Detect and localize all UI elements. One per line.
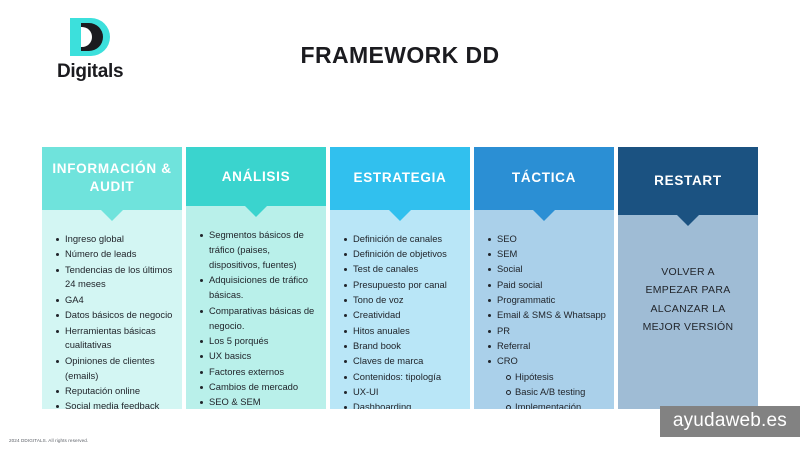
slide-header: Digitals FRAMEWORK DD — [0, 0, 800, 120]
list-item: Email & SMS & Whatsapp — [497, 308, 608, 323]
list-item: Dashboarding — [353, 400, 464, 409]
list-item: Ingreso global — [65, 232, 176, 247]
framework-column-restart: RESTARTVOLVER A EMPEZAR PARA ALCANZAR LA… — [618, 147, 758, 409]
list-item: Adquisiciones de tráfico básicas. — [209, 273, 320, 303]
list-item: Brand book — [353, 339, 464, 354]
chevron-down-icon — [389, 210, 411, 221]
list-item: Factores externos — [209, 365, 320, 380]
list-item: Social — [497, 262, 608, 277]
framework-column-analisis: ANÁLISISSegmentos básicos de tráfico (pa… — [186, 147, 326, 409]
list-item: Creatividad — [353, 308, 464, 323]
list-item: Reputación online — [65, 384, 176, 399]
item-list: Segmentos básicos de tráfico (paises, di… — [192, 228, 320, 409]
column-header-label: ANÁLISIS — [216, 168, 297, 186]
column-header-restart[interactable]: RESTART — [618, 147, 758, 215]
column-body-tactica: SEOSEMSocialPaid socialProgrammaticEmail… — [474, 210, 614, 409]
list-item: Tendencias de los últimos 24 meses — [65, 263, 176, 293]
list-item: Definición de canales — [353, 232, 464, 247]
framework-columns: INFORMACIÓN & AUDITIngreso globalNúmero … — [42, 147, 758, 409]
item-list: SEOSEMSocialPaid socialProgrammaticEmail… — [480, 232, 608, 409]
list-item: CRO — [497, 354, 608, 369]
column-body-restart: VOLVER A EMPEZAR PARA ALCANZAR LA MEJOR … — [618, 215, 758, 409]
list-item: Basic A/B testing — [497, 385, 608, 400]
list-item: Hipótesis — [497, 370, 608, 385]
list-item: SEO — [497, 232, 608, 247]
list-item: Programmatic — [497, 293, 608, 308]
list-item: Tono de voz — [353, 293, 464, 308]
copyright-text: 2024 DDIGITALS. All rights reserved. — [9, 438, 88, 443]
list-item: Número de leads — [65, 247, 176, 262]
column-header-label: ESTRATEGIA — [347, 169, 452, 187]
chevron-down-icon — [101, 210, 123, 221]
list-item: Cambios de mercado — [209, 380, 320, 395]
list-item: Hitos anuales — [353, 324, 464, 339]
list-item: GA4 — [65, 293, 176, 308]
column-header-label: TÁCTICA — [506, 169, 582, 187]
column-body-analisis: Segmentos básicos de tráfico (paises, di… — [186, 206, 326, 409]
restart-message: VOLVER A EMPEZAR PARA ALCANZAR LA MEJOR … — [624, 263, 752, 337]
watermark-badge: ayudaweb.es — [660, 406, 800, 437]
item-list: Ingreso globalNúmero de leadsTendencias … — [48, 232, 176, 409]
list-item: Herramientas básicas cualitativas — [65, 324, 176, 354]
column-body-estrategia: Definición de canalesDefinición de objet… — [330, 210, 470, 409]
list-item: UX basics — [209, 349, 320, 364]
list-item: Comparativas básicas de negocio. — [209, 304, 320, 334]
list-item: Segmentos básicos de tráfico (paises, di… — [209, 228, 320, 273]
list-item: Test de canales — [353, 262, 464, 277]
list-item: UX-UI — [353, 385, 464, 400]
framework-column-estrategia: ESTRATEGIADefinición de canalesDefinició… — [330, 147, 470, 409]
column-header-label: RESTART — [648, 172, 728, 190]
list-item: Referral — [497, 339, 608, 354]
column-header-estrategia[interactable]: ESTRATEGIA — [330, 147, 470, 210]
framework-column-tactica: TÁCTICASEOSEMSocialPaid socialProgrammat… — [474, 147, 614, 409]
column-body-informacion-audit: Ingreso globalNúmero de leadsTendencias … — [42, 210, 182, 409]
column-header-tactica[interactable]: TÁCTICA — [474, 147, 614, 210]
item-list: Definición de canalesDefinición de objet… — [336, 232, 464, 409]
list-item: Contenidos: tipología — [353, 370, 464, 385]
framework-column-informacion-audit: INFORMACIÓN & AUDITIngreso globalNúmero … — [42, 147, 182, 409]
list-item: Definición de objetivos — [353, 247, 464, 262]
list-item: Social media feedback — [65, 399, 176, 409]
column-header-analisis[interactable]: ANÁLISIS — [186, 147, 326, 206]
list-item: Los 5 porqués — [209, 334, 320, 349]
list-item: SEM — [497, 247, 608, 262]
list-item: Implementación — [497, 400, 608, 409]
list-item: Opiniones de clientes (emails) — [65, 354, 176, 384]
chevron-down-icon — [677, 215, 699, 226]
page-title: FRAMEWORK DD — [0, 42, 800, 69]
column-header-label: INFORMACIÓN & AUDIT — [42, 160, 182, 196]
list-item: Claves de marca — [353, 354, 464, 369]
list-item: PR — [497, 324, 608, 339]
list-item: Presupuesto por canal — [353, 278, 464, 293]
list-item: SEO & SEM — [209, 395, 320, 409]
column-header-informacion-audit[interactable]: INFORMACIÓN & AUDIT — [42, 147, 182, 210]
list-item: Datos básicos de negocio — [65, 308, 176, 323]
chevron-down-icon — [245, 206, 267, 217]
list-item: Paid social — [497, 278, 608, 293]
chevron-down-icon — [533, 210, 555, 221]
